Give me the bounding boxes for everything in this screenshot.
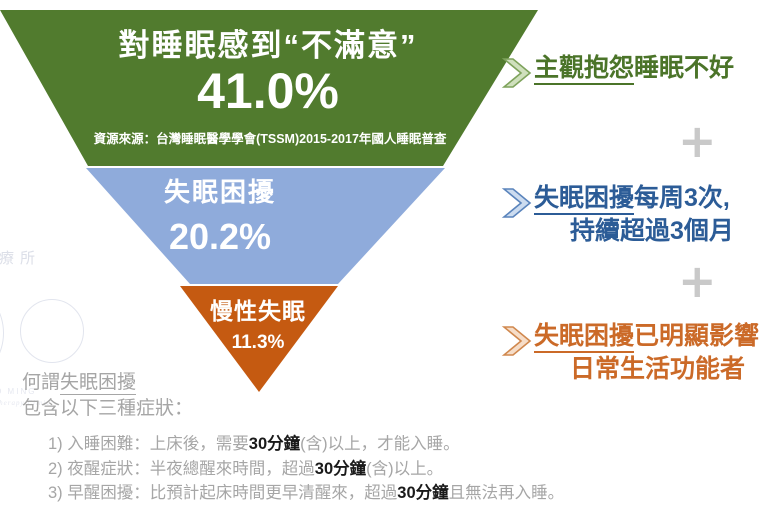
definition-note-line1: 何謂失眠困擾 [22, 370, 522, 396]
symptom-pre: ：比預計起床時間更早清醒來，超過 [133, 484, 397, 502]
symptom-index: 2) [48, 460, 63, 478]
symptom-name: 入睡困難 [67, 435, 133, 453]
chevron-right-icon [500, 185, 534, 221]
chevron-right-icon [500, 323, 534, 359]
funnel-green-title: 對睡眠感到“不滿意” [0, 20, 536, 65]
list-item: 2) 夜醒症狀：半夜總醒來時間，超過30分鐘(含)以上。 [48, 457, 778, 482]
symptom-highlight: 30分鐘 [249, 435, 300, 453]
criteria-list: 主觀抱怨睡眠不好 + 失眠困擾每周3次, 持續超過3個月 + 失眠困擾已明顯影響… [500, 0, 778, 420]
symptom-post: (含)以上。 [366, 460, 443, 478]
chevron-right-icon [500, 55, 534, 91]
definition-prefix: 何謂 [22, 372, 60, 393]
criteria-text-impairment: 失眠困擾已明顯影響 日常生活功能者 [534, 320, 778, 386]
symptom-post: (含)以上，才能入睡。 [300, 435, 460, 453]
criteria-rest-text: 睡眠不好 [634, 54, 734, 82]
symptom-name: 夜醒症狀 [67, 460, 133, 478]
symptom-highlight: 30分鐘 [315, 460, 366, 478]
criteria-second-line: 日常生活功能者 [534, 353, 778, 386]
criteria-text-subjective: 主觀抱怨睡眠不好 [534, 52, 778, 85]
criteria-second-line: 持續超過3個月 [534, 215, 778, 248]
criteria-rest-text: 每周3次, [634, 184, 730, 212]
insomnia-funnel-chart: 對睡眠感到“不滿意” 41.0% 資源來源：台灣睡眠醫學學會(TSSM)2015… [0, 0, 560, 400]
funnel-source-note: 資源來源：台灣睡眠醫學學會(TSSM)2015-2017年國人睡眠普查 [0, 128, 540, 147]
definition-note-line2: 包含以下三種症狀： [22, 396, 522, 422]
funnel-orange-title: 慢性失眠 [0, 292, 516, 326]
symptom-name: 早醒困擾 [67, 484, 133, 502]
criteria-underlined-term: 失眠困擾 [534, 322, 634, 353]
symptom-pre: ：半夜總醒來時間，超過 [133, 460, 315, 478]
definition-underlined-term: 失眠困擾 [60, 372, 136, 395]
criteria-text-frequency: 失眠困擾每周3次, 持續超過3個月 [534, 182, 778, 248]
symptom-index: 3) [48, 484, 63, 502]
funnel-green-percent: 41.0% [0, 62, 536, 120]
funnel-blue-percent: 20.2% [0, 216, 440, 258]
symptom-pre: ：上床後，需要 [133, 435, 249, 453]
criteria-underlined-term: 主觀抱怨 [534, 54, 634, 85]
definition-note: 何謂失眠困擾 包含以下三種症狀： [22, 370, 522, 422]
criteria-rest-text: 已明顯影響 [634, 322, 759, 350]
symptom-list: 1) 入睡困難：上床後，需要30分鐘(含)以上，才能入睡。 2) 夜醒症狀：半夜… [48, 432, 778, 506]
plus-operator-2: + [678, 258, 717, 304]
symptom-post: 且無法再入睡。 [449, 484, 565, 502]
criteria-underlined-term: 失眠困擾 [534, 184, 634, 215]
funnel-orange-percent: 11.3% [0, 332, 516, 354]
list-item: 1) 入睡困難：上床後，需要30分鐘(含)以上，才能入睡。 [48, 432, 778, 457]
infographic-canvas: 心理治療所 HAO MING Psychotherapy Clinic 對睡眠感… [0, 0, 778, 518]
plus-operator-1: + [678, 118, 717, 164]
symptom-index: 1) [48, 435, 63, 453]
symptom-highlight: 30分鐘 [397, 484, 448, 502]
funnel-blue-title: 失眠困擾 [0, 172, 440, 209]
list-item: 3) 早醒困擾：比預計起床時間更早清醒來，超過30分鐘且無法再入睡。 [48, 481, 778, 506]
